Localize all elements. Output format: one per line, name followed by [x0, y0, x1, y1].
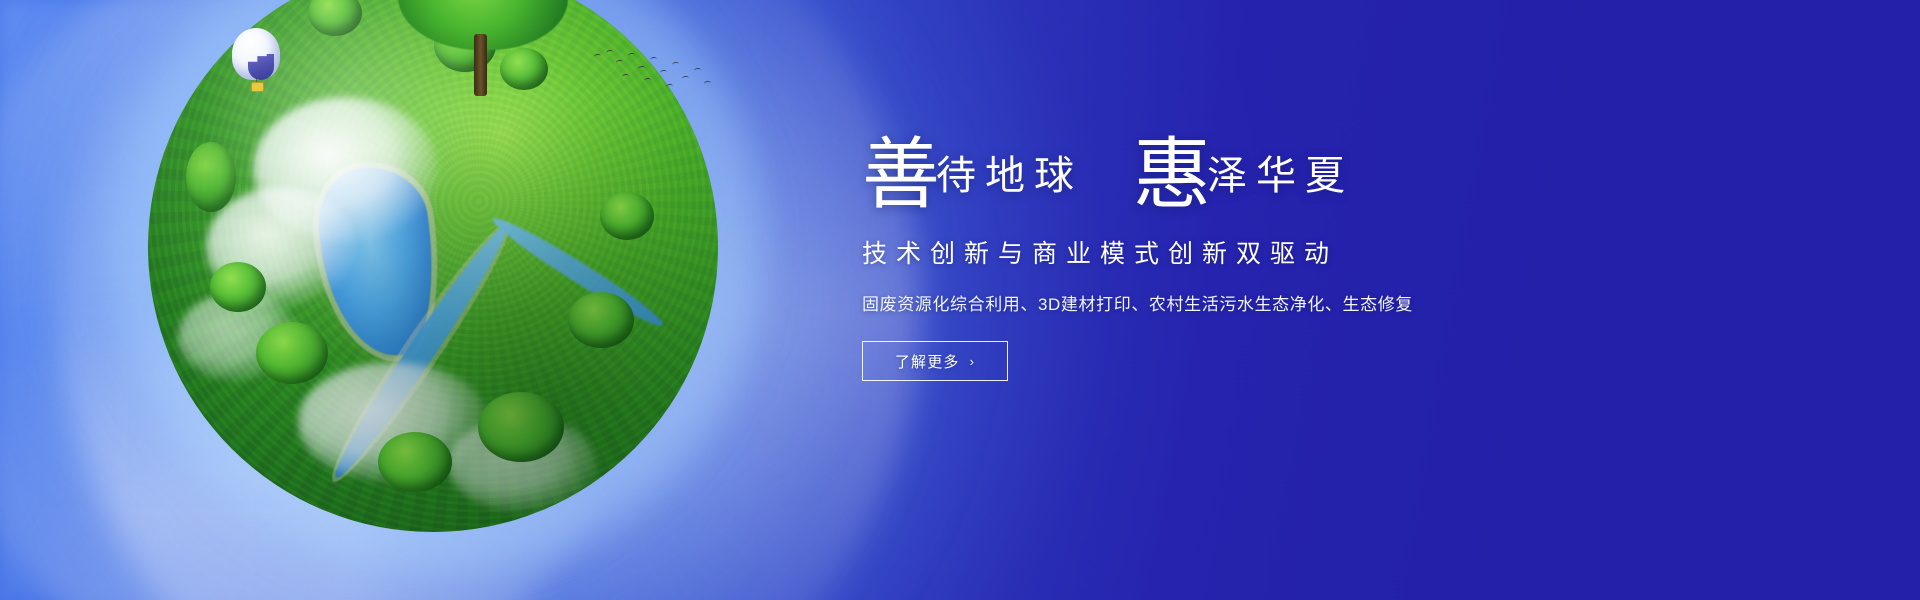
balloon-basket	[251, 82, 264, 92]
cloud-patch	[206, 187, 356, 307]
tree-canopy	[568, 292, 634, 348]
learn-more-label: 了解更多	[895, 351, 960, 372]
cloud-patch	[448, 417, 598, 512]
headline-char-1: 善	[862, 131, 940, 218]
river-branch-shape	[488, 211, 668, 334]
headline-text-2: 泽华夏	[1207, 153, 1354, 198]
bird-flock-icon	[592, 48, 722, 92]
tree-canopy	[210, 262, 266, 312]
cloud-patch	[298, 362, 488, 482]
chevron-right-icon: ›	[970, 354, 976, 369]
headline: 善待地球惠泽华夏	[862, 128, 1622, 220]
description: 固废资源化综合利用、3D建材打印、农村生活污水生态净化、生态修复	[862, 290, 1622, 315]
tree-canopy	[600, 192, 654, 240]
tree-canopy	[378, 432, 452, 492]
lake-shape	[312, 161, 444, 363]
tree-canopy	[256, 322, 328, 384]
river-shape	[325, 221, 518, 484]
tree-trunk	[474, 34, 487, 96]
cloud-patch	[253, 97, 438, 242]
hero-copy: 善待地球惠泽华夏 技术创新与商业模式创新双驱动 固废资源化综合利用、3D建材打印…	[862, 128, 1622, 381]
hero-banner: 善待地球惠泽华夏 技术创新与商业模式创新双驱动 固废资源化综合利用、3D建材打印…	[0, 0, 1920, 600]
headline-char-2: 惠	[1133, 131, 1211, 218]
tree-icon	[398, 0, 568, 88]
balloon-envelope	[232, 28, 280, 80]
tree-canopy	[186, 142, 236, 212]
headline-text-1: 待地球	[936, 153, 1083, 198]
learn-more-button[interactable]: 了解更多 ›	[862, 341, 1008, 381]
tree-canopy	[308, 0, 362, 36]
cloud-patch	[178, 292, 298, 382]
subtitle: 技术创新与商业模式创新双驱动	[862, 234, 1622, 270]
hot-air-balloon-icon	[232, 28, 280, 90]
tree-canopy	[478, 392, 564, 462]
